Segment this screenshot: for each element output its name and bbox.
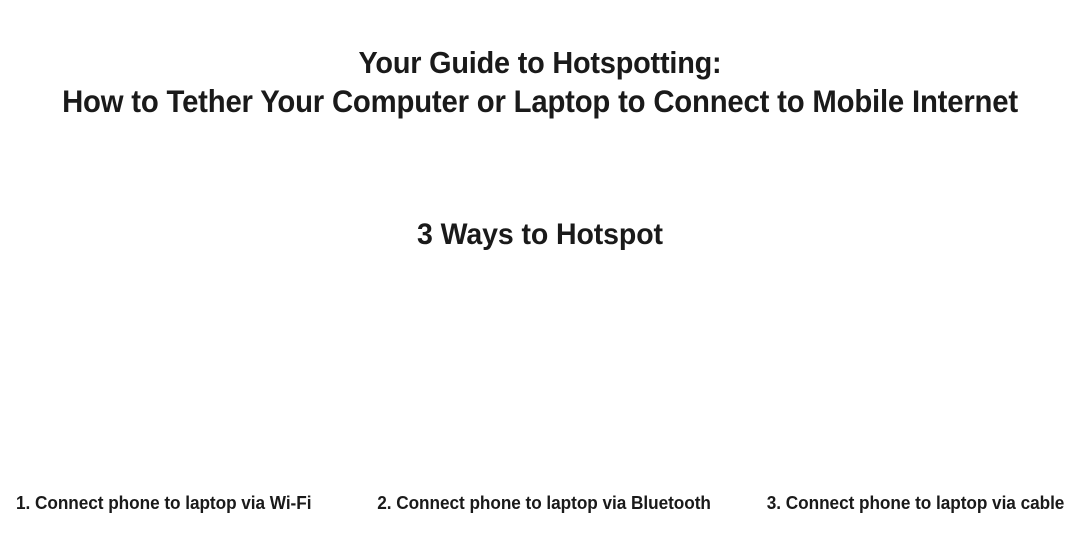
step-caption-row: 1. Connect phone to laptop via Wi-Fi 2. … [0, 492, 1080, 552]
step-image-3 [720, 253, 1080, 492]
step-caption-2: 2. Connect phone to laptop via Bluetooth [378, 492, 703, 514]
page-title: Your Guide to Hotspotting: How to Tether… [38, 0, 1042, 120]
step-image-1 [0, 253, 360, 492]
steps-illustration-row [0, 253, 1080, 492]
article-page: Your Guide to Hotspotting: How to Tether… [0, 0, 1080, 552]
step-caption-1: 1. Connect phone to laptop via Wi-Fi [16, 492, 341, 514]
step-caption-3: 3. Connect phone to laptop via cable [739, 492, 1064, 514]
step-image-2 [360, 253, 720, 492]
page-title-line-2: How to Tether Your Computer or Laptop to… [60, 82, 1020, 120]
page-title-line-1: Your Guide to Hotspotting: [60, 44, 1020, 82]
section-heading: 3 Ways to Hotspot [27, 120, 1053, 253]
